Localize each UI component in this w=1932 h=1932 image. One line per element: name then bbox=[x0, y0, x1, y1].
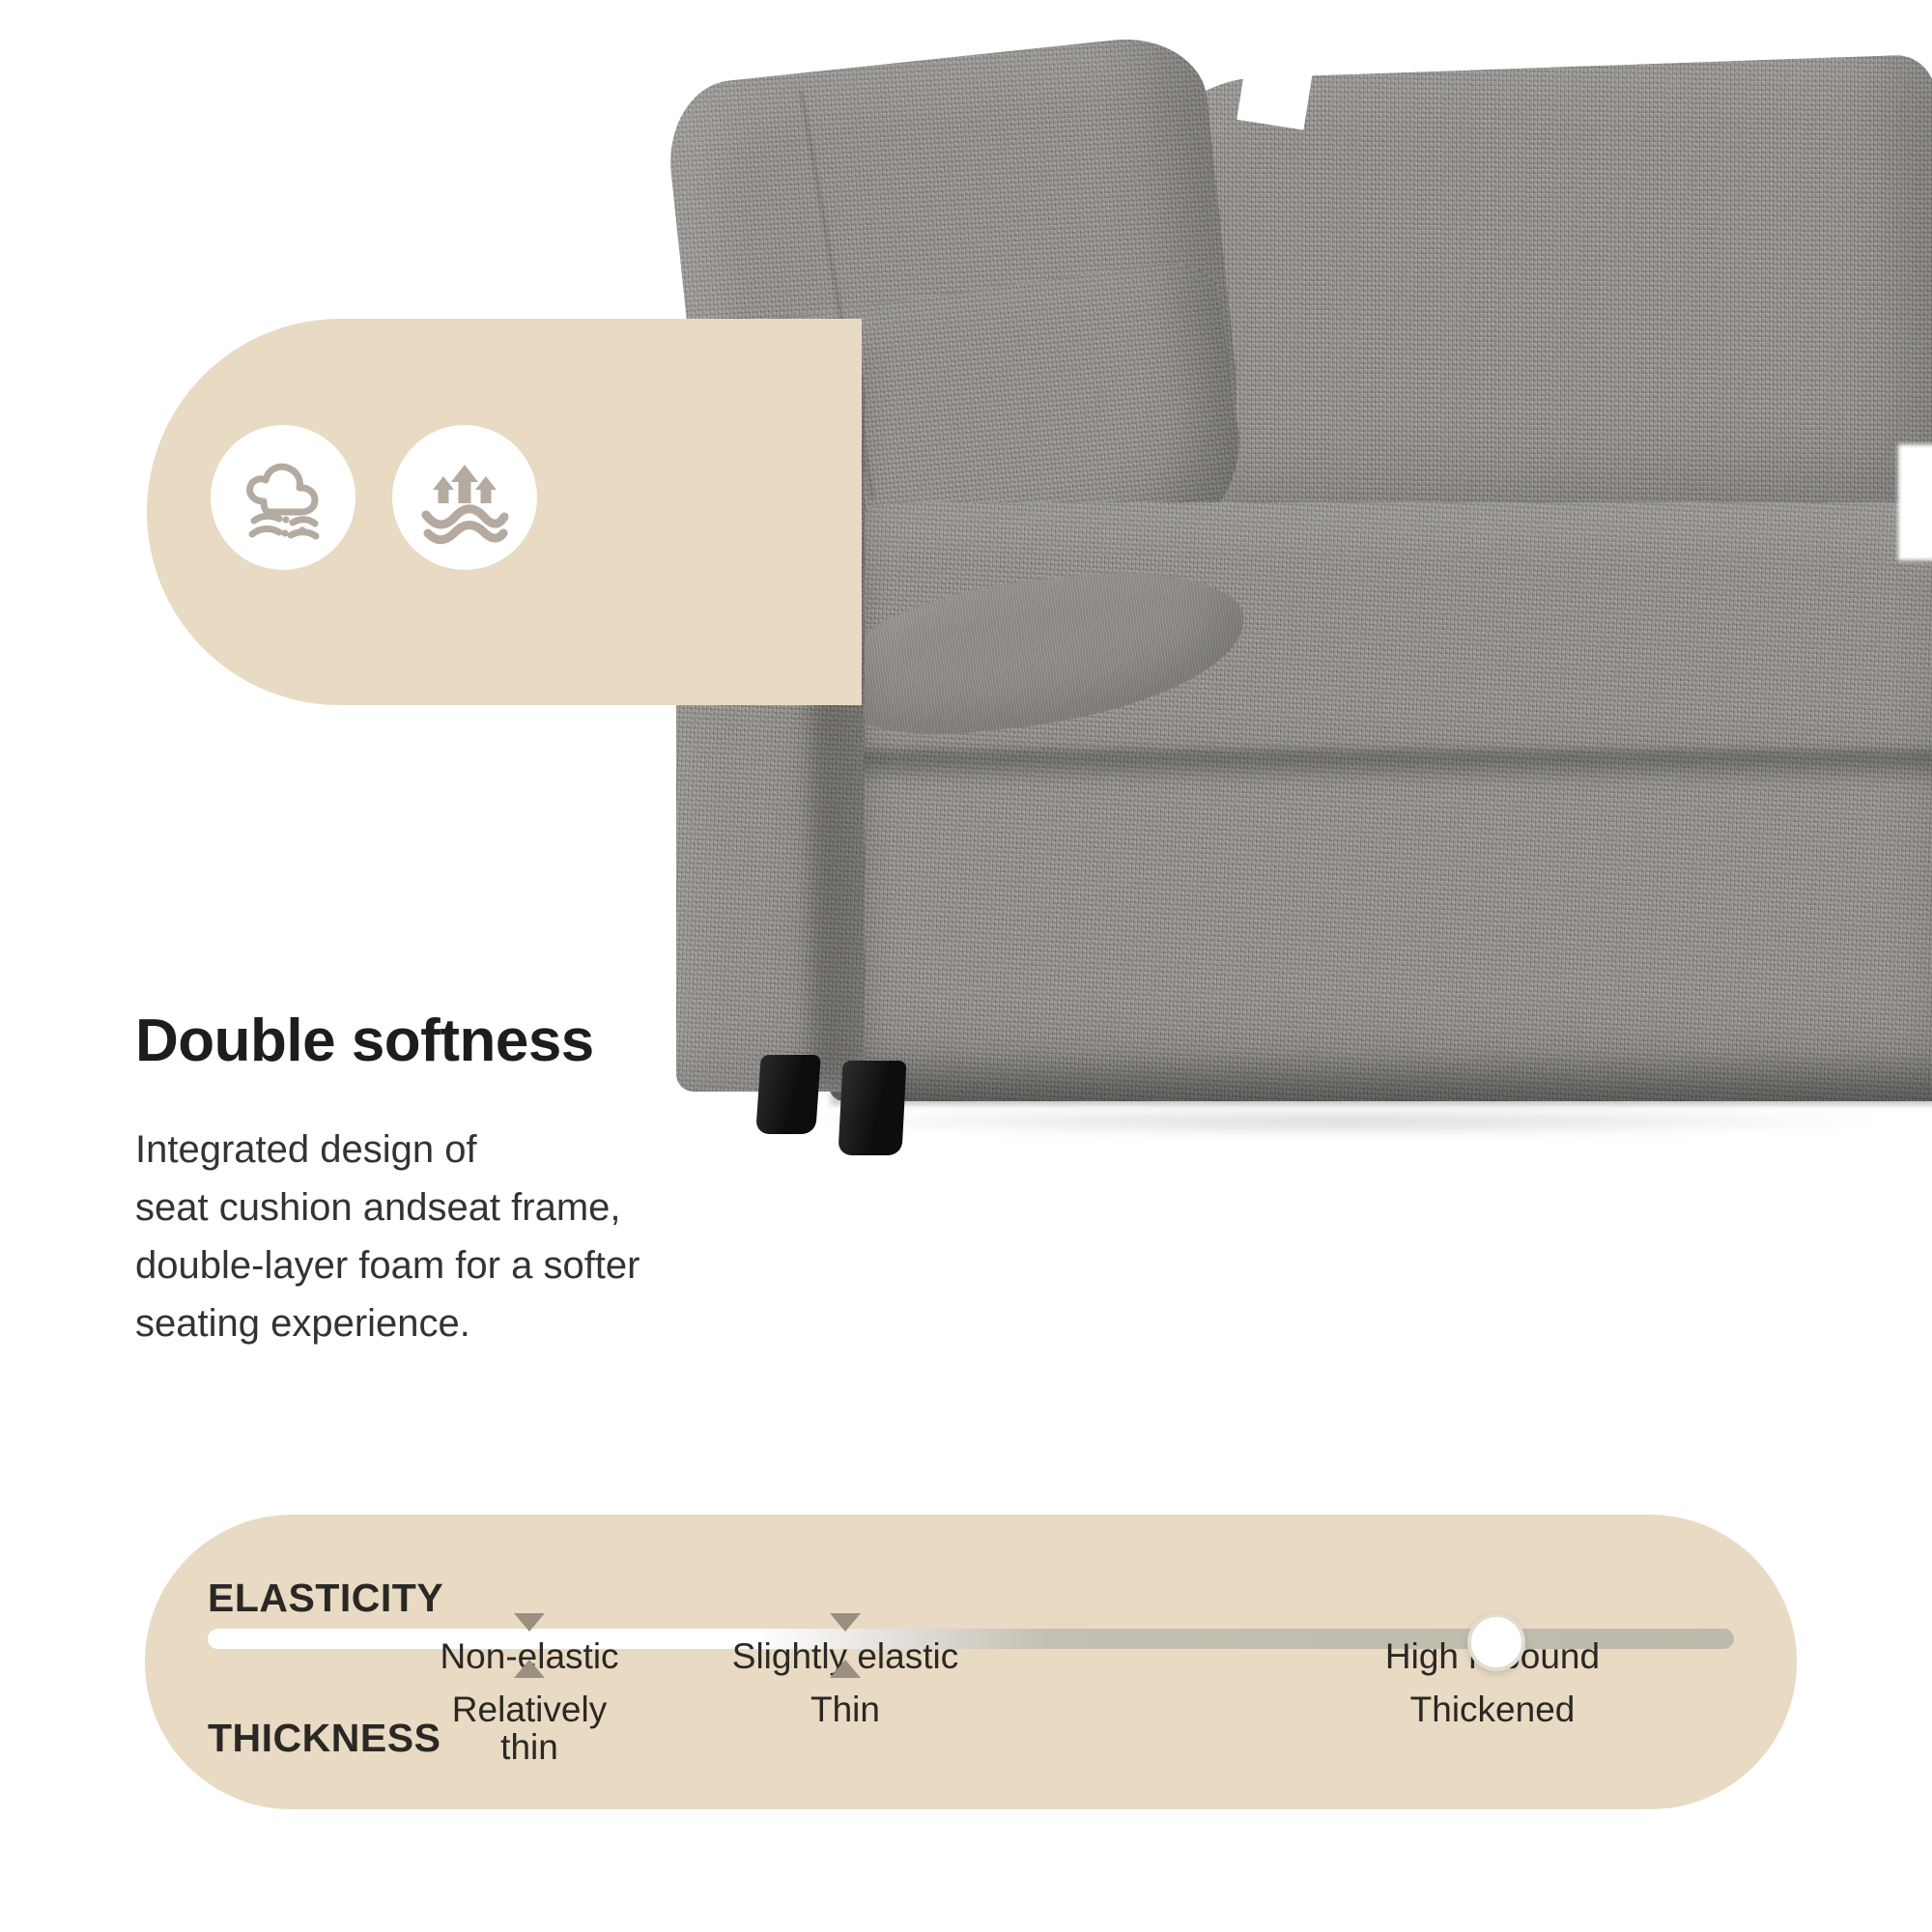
thickness-row-label: THICKNESS bbox=[208, 1716, 440, 1761]
sofa-base-top-shadow bbox=[831, 752, 1932, 784]
scale-point-thickness-label: Thickened bbox=[1410, 1690, 1576, 1728]
page-title: Double softness bbox=[135, 1009, 734, 1072]
thickness-label-line: Thin bbox=[810, 1690, 880, 1728]
feature-description-line: seat cushion andseat frame, bbox=[135, 1179, 676, 1236]
cloud-breeze-icon bbox=[211, 425, 355, 570]
feature-description-line: double-layer foam for a softer bbox=[135, 1236, 676, 1294]
elasticity-row-label: ELASTICITY bbox=[208, 1576, 443, 1621]
scale-marker-up-icon bbox=[514, 1660, 545, 1678]
arrows-up-waves-icon bbox=[392, 425, 537, 570]
feature-description: Integrated design of seat cushion andsea… bbox=[135, 1121, 676, 1352]
scale-slider-knob[interactable] bbox=[1467, 1613, 1525, 1671]
scale-point-thickness-label: Relatively thin bbox=[452, 1690, 607, 1766]
sofa-base bbox=[829, 753, 1932, 1101]
thickness-label-line: Relatively bbox=[452, 1690, 607, 1728]
feature-icon-group bbox=[211, 425, 537, 570]
sofa-base-bottom-edge bbox=[831, 1053, 1932, 1105]
scale-marker-down-icon bbox=[514, 1613, 545, 1632]
scale-marker-up-icon bbox=[830, 1660, 861, 1678]
sofa-ground-shadow bbox=[782, 1111, 1903, 1136]
feature-description-line: Integrated design of bbox=[135, 1121, 676, 1179]
thickness-label-line: thin bbox=[452, 1728, 607, 1766]
cushion-gap-right bbox=[1898, 444, 1932, 560]
sofa-leg-back bbox=[838, 1061, 906, 1155]
feature-description-line: seating experience. bbox=[135, 1294, 676, 1352]
scale-point-thickness-label: Thin bbox=[810, 1690, 880, 1728]
infographic-canvas: Double softness Integrated design of sea… bbox=[0, 0, 1932, 1932]
thickness-label-line: Thickened bbox=[1410, 1690, 1576, 1728]
scale-marker-down-icon bbox=[830, 1613, 861, 1632]
back-cushion-right bbox=[1142, 54, 1932, 535]
